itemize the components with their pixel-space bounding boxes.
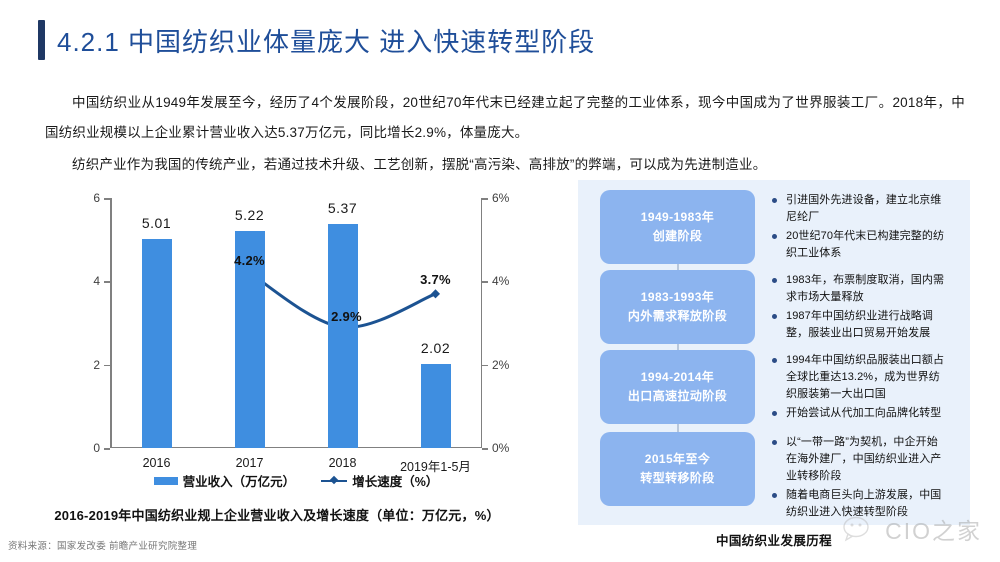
watermark-label: CIO之家: [885, 512, 982, 546]
stage-bullet: 20世纪70年代末已构建完整的纺织工业体系: [772, 228, 948, 262]
stage-period: 2015年至今: [645, 450, 711, 469]
bar-value-label: 2.02: [421, 340, 450, 356]
y-tick-left: [104, 365, 110, 367]
page-title: 4.2.1 中国纺织业体量庞大 进入快速转型阶段: [38, 20, 595, 60]
legend-label-growth: 增长速度（%）: [352, 471, 438, 490]
y-tick-right: [482, 365, 488, 367]
chart-caption: 2016-2019年中国纺织业规上企业营业收入及增长速度（单位：万亿元，%）: [42, 505, 512, 524]
stage-bullet: 1987年中国纺织业进行战略调整，服装业出口贸易开始发展: [772, 308, 948, 342]
timeline-stage[interactable]: 1994-2014年出口高速拉动阶段1994年中国纺织品服装出口额占全球比重达1…: [600, 350, 948, 428]
stage-name: 转型转移阶段: [640, 469, 714, 488]
chart-bar: [421, 364, 451, 448]
stage-bullet-list: 引进国外先进设备，建立北京维尼纶厂20世纪70年代末已构建完整的纺织工业体系: [772, 192, 948, 264]
legend-label-revenue: 营业收入（万亿元）: [183, 471, 296, 490]
stage-bullet: 1994年中国纺织品服装出口额占全球比重达13.2%，成为世界纺织服装第一大出口…: [772, 352, 948, 403]
x-axis-label: 2017: [236, 456, 264, 470]
line-value-label: 3.7%: [420, 272, 451, 287]
chart-plot-area: 02460%2%4%6%5.0120165.2220175.3720182.02…: [110, 198, 482, 448]
y-tick-left: [104, 281, 110, 283]
line-value-label: 4.2%: [234, 253, 265, 268]
x-axis-label: 2016: [143, 456, 171, 470]
stage-name: 出口高速拉动阶段: [628, 387, 727, 406]
stage-box[interactable]: 1983-1993年内外需求释放阶段: [600, 270, 755, 344]
development-timeline-panel: 1949-1983年创建阶段引进国外先进设备，建立北京维尼纶厂20世纪70年代末…: [578, 180, 970, 525]
y-tick-label-left: 2: [93, 358, 100, 372]
stage-bullet: 开始尝试从代加工向品牌化转型: [772, 405, 948, 422]
y-tick-right: [482, 448, 488, 450]
legend-item-growth: 增长速度（%）: [321, 471, 438, 490]
y-tick-label-right: 6%: [492, 191, 509, 205]
y-tick-label-right: 0%: [492, 441, 509, 455]
stage-name: 创建阶段: [653, 227, 703, 246]
stage-box[interactable]: 1994-2014年出口高速拉动阶段: [600, 350, 755, 424]
stage-bullet-list: 以“一带一路”为契机，中企开始在海外建厂，中国纺织业进入产业转移阶段随着电商巨头…: [772, 434, 948, 523]
stage-period: 1994-2014年: [641, 368, 714, 387]
legend-bar-swatch: [154, 477, 178, 485]
x-axis-label: 2018: [329, 456, 357, 470]
stage-bullet: 引进国外先进设备，建立北京维尼纶厂: [772, 192, 948, 226]
bar-value-label: 5.22: [235, 207, 264, 223]
watermark: CIO之家: [843, 512, 982, 546]
stage-period: 1949-1983年: [641, 208, 714, 227]
legend-item-revenue: 营业收入（万亿元）: [154, 471, 296, 490]
y-tick-label-left: 0: [93, 441, 100, 455]
chart-bar: [142, 239, 172, 448]
stage-name: 内外需求释放阶段: [628, 307, 727, 326]
stage-bullet: 1983年，布票制度取消，国内需求市场大量释放: [772, 272, 948, 306]
y-tick-left: [104, 198, 110, 200]
source-note: 资料来源：国家发改委 前瞻产业研究院整理: [8, 538, 197, 552]
stage-bullet-list: 1983年，布票制度取消，国内需求市场大量释放1987年中国纺织业进行战略调整，…: [772, 272, 948, 344]
y-tick-label-left: 4: [93, 274, 100, 288]
stage-period: 1983-1993年: [641, 288, 714, 307]
chart-legend: 营业收入（万亿元） 增长速度（%）: [110, 471, 482, 490]
y-tick-label-right: 4%: [492, 274, 509, 288]
wechat-icon: [843, 516, 877, 542]
chart-bar: [328, 224, 358, 448]
y-tick-label-left: 6: [93, 191, 100, 205]
stage-box[interactable]: 2015年至今转型转移阶段: [600, 432, 755, 506]
growth-line-marker: [431, 289, 440, 298]
stage-box[interactable]: 1949-1983年创建阶段: [600, 190, 755, 264]
page-title-text: 4.2.1 中国纺织业体量庞大 进入快速转型阶段: [57, 22, 595, 59]
paragraph-2: 纺织产业作为我国的传统产业，若通过技术升级、工艺创新，摆脱“高污染、高排放”的弊…: [45, 150, 965, 180]
revenue-growth-chart: 02460%2%4%6%5.0120165.2220175.3720182.02…: [42, 188, 542, 533]
timeline-stage[interactable]: 1983-1993年内外需求释放阶段1983年，布票制度取消，国内需求市场大量释…: [600, 270, 948, 348]
stage-bullet: 以“一带一路”为契机，中企开始在海外建厂，中国纺织业进入产业转移阶段: [772, 434, 948, 485]
bar-value-label: 5.37: [328, 200, 357, 216]
title-accent-bar: [38, 20, 45, 60]
stage-bullet-list: 1994年中国纺织品服装出口额占全球比重达13.2%，成为世界纺织服装第一大出口…: [772, 352, 948, 424]
paragraph-1: 中国纺织业从1949年发展至今，经历了4个发展阶段，20世纪70年代末已经建立起…: [45, 88, 965, 148]
y-tick-left: [104, 448, 110, 450]
timeline-stage[interactable]: 1949-1983年创建阶段引进国外先进设备，建立北京维尼纶厂20世纪70年代末…: [600, 190, 948, 268]
y-tick-right: [482, 281, 488, 283]
body-text: 中国纺织业从1949年发展至今，经历了4个发展阶段，20世纪70年代末已经建立起…: [45, 88, 965, 182]
bar-value-label: 5.01: [142, 215, 171, 231]
y-tick-right: [482, 198, 488, 200]
timeline-stage[interactable]: 2015年至今转型转移阶段以“一带一路”为契机，中企开始在海外建厂，中国纺织业进…: [600, 432, 948, 510]
legend-line-swatch: [321, 476, 347, 486]
line-value-label: 2.9%: [331, 309, 362, 324]
y-tick-label-right: 2%: [492, 358, 509, 372]
